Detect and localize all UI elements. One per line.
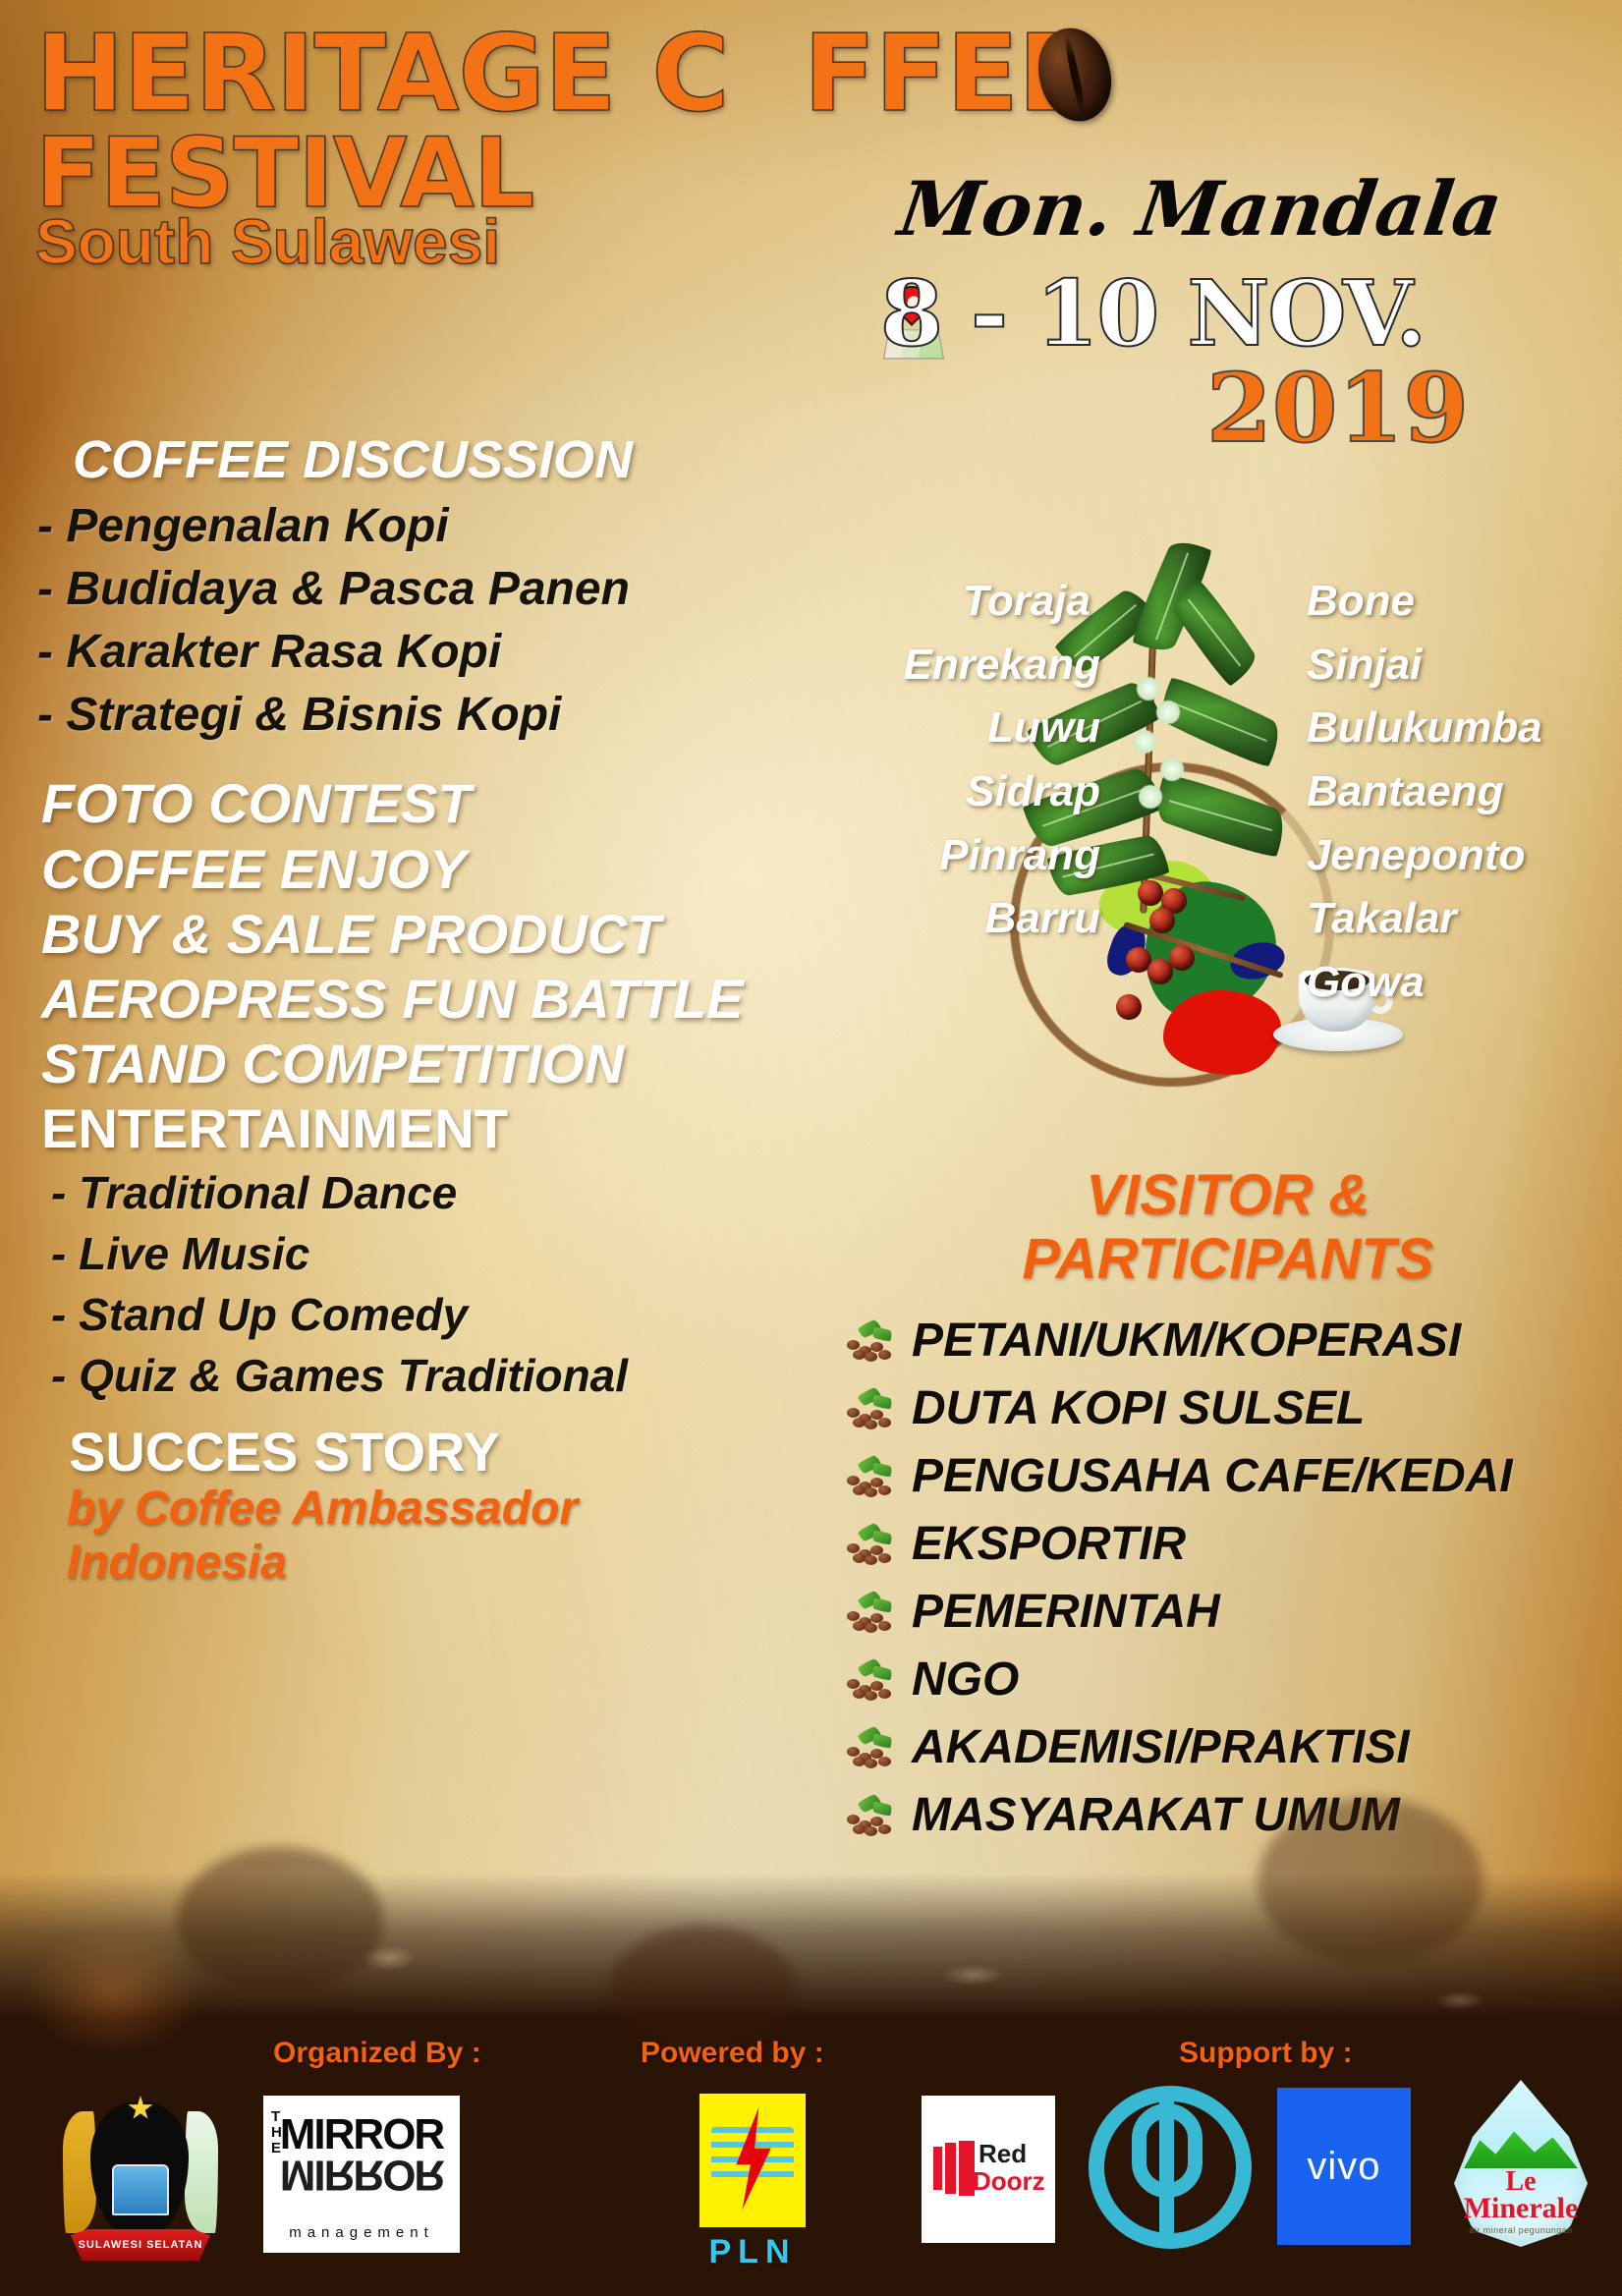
mirror-wordmark: MIRROR MIRROR [263,2105,460,2204]
region-label: Takalar [1307,887,1622,951]
list-item: AKADEMISI/PRAKTISI [845,1720,1621,1774]
region-label: Enrekang [806,634,1100,698]
leaf-icon [1167,577,1262,689]
list-item-label: PENGUSAHA CAFE/KEDAI [912,1449,1513,1503]
blossom-icon [1138,784,1163,810]
pln-logo [699,2094,806,2227]
list-item: - Quiz & Games Traditional [51,1345,892,1406]
coffee-beans-bullet-icon [845,1454,898,1497]
visitors-list: PETANI/UKM/KOPERASI DUTA KOPI SULSEL [845,1314,1621,1842]
list-item: FOTO CONTEST [41,771,892,836]
le-minerale-logo: Le Minerale air mineral pegunungan [1442,2080,1599,2255]
subtitle-south-sulawesi: South Sulawesi [35,210,500,273]
list-item: STAND COMPETITION [41,1032,892,1096]
region-label: Jeneponto [1307,824,1622,888]
list-item: COFFEE ENJOY [41,837,892,902]
program-column: COFFEE DISCUSSION - Pengenalan Kopi - Bu… [28,432,892,1590]
region-label: Toraja [806,570,1100,634]
list-item: - Strategi & Bisnis Kopi [37,684,892,747]
list-item: PEMERINTAH [845,1585,1621,1639]
list-item: MASYARAKAT UMUM [845,1788,1621,1842]
pln-wordmark: PLN [678,2233,827,2271]
activity-list: FOTO CONTEST COFFEE ENJOY BUY & SALE PRO… [28,771,892,1095]
region-label: Barru [806,887,1100,951]
map-blob-australia [1163,990,1281,1075]
region-label: Bulukumba [1307,697,1622,760]
the-mirror-management-logo: THE MIRROR MIRROR management [263,2096,460,2253]
entertainment-title: ENTERTAINMENT [41,1096,892,1160]
event-year: 2019 [1206,362,1469,456]
coffee-discussion-list: - Pengenalan Kopi - Budidaya & Pasca Pan… [37,495,892,746]
coffee-beans-bullet-icon [845,1522,898,1565]
list-item: PETANI/UKM/KOPERASI [845,1314,1621,1368]
emblem-ribbon: SULAWESI SELATAN [71,2229,210,2261]
mirror-word-top: MIRROR [280,2114,443,2155]
event-date-group: 8 - 10 NOV. [880,271,1425,357]
vivo-wordmark: vivo [1277,2088,1411,2245]
coffee-beans-bullet-icon [845,1725,898,1768]
sponsor-footer: Organized By : Powered by : Support by :… [0,1972,1622,2296]
vivo-logo: vivo [1277,2088,1411,2245]
emblem-center-crest [112,2164,169,2215]
list-item-label: EKSPORTIR [912,1517,1186,1571]
region-label: Luwu [806,697,1100,760]
coffee-cherry-icon [1149,908,1175,933]
visitors-title-line1: VISITOR & [835,1164,1621,1228]
coffee-cherry-icon [1169,945,1195,971]
list-item-label: AKADEMISI/PRAKTISI [912,1720,1410,1774]
coffee-beans-bullet-icon [845,1386,898,1429]
page-title: HERITAGE CFFEE [35,22,1090,128]
list-item-label: DUTA KOPI SULSEL [912,1381,1365,1435]
poster-canvas: HERITAGE CFFEE FESTIVAL South Sulawesi M… [0,0,1622,2296]
list-item: PENGUSAHA CAFE/KEDAI [845,1449,1621,1503]
list-item: AEROPRESS FUN BATTLE [41,967,892,1032]
list-item-label: PEMERINTAH [912,1585,1220,1639]
succes-story-by-line1: by Coffee Ambassador [67,1484,892,1536]
region-list-right: Bone Sinjai Bulukumba Bantaeng Jeneponto… [1307,570,1622,1015]
list-item: - Karakter Rasa Kopi [37,621,892,684]
region-label: Bone [1307,570,1622,634]
list-item: - Pengenalan Kopi [37,495,892,558]
region-label: Bantaeng [1307,760,1622,824]
region-label: Sinjai [1307,634,1622,698]
circle-monogram-logo [1089,2086,1252,2249]
succes-story-title: SUCCES STORY [69,1420,892,1484]
le-minerale-word-min: Minerale [1442,2192,1599,2225]
reddoorz-door-icon [933,2141,975,2196]
blossom-icon [1136,676,1161,701]
event-date: 8 - 10 NOV. [880,271,1425,357]
list-item: EKSPORTIR [845,1517,1621,1571]
list-item-label: NGO [912,1652,1019,1707]
le-minerale-tagline: air mineral pegunungan [1442,2225,1599,2235]
list-item: - Stand Up Comedy [51,1284,892,1345]
coffee-beans-bullet-icon [845,1793,898,1836]
list-item: - Budidaya & Pasca Panen [37,558,892,621]
coffee-discussion-title: COFFEE DISCUSSION [73,432,892,487]
powered-by-label: Powered by : [641,2037,824,2070]
region-label: Pinrang [806,824,1100,888]
visitors-title-line2: PARTICIPANTS [835,1228,1621,1292]
coffee-beans-bullet-icon [845,1318,898,1362]
reddoorz-logo: Red Doorz [922,2096,1055,2243]
coffee-cherry-icon [1138,880,1163,906]
visitors-title: VISITOR & PARTICIPANTS [835,1164,1621,1292]
mirror-word-bottom: MIRROR [280,2155,443,2195]
region-list-left: Toraja Enrekang Luwu Sidrap Pinrang Barr… [806,570,1100,951]
visitors-participants-block: VISITOR & PARTICIPANTS PETANI/UKM/KOPERA… [835,1164,1621,1856]
organized-by-label: Organized By : [273,2037,481,2070]
support-by-label: Support by : [1179,2037,1353,2070]
entertainment-list: - Traditional Dance - Live Music - Stand… [51,1162,892,1406]
region-label: Gowa [1307,951,1622,1015]
list-item-label: MASYARAKAT UMUM [912,1788,1400,1842]
blossom-icon [1155,700,1181,725]
mirror-management-label: management [263,2224,460,2241]
coffee-beans-bullet-icon [845,1590,898,1633]
blossom-icon [1159,756,1185,782]
blossom-icon [1132,729,1157,755]
sulawesi-selatan-emblem-logo: SULAWESI SELATAN [57,2088,224,2265]
list-item: - Traditional Dance [51,1162,892,1223]
emblem-wreath-right [185,2111,218,2233]
region-label: Sidrap [806,760,1100,824]
coffee-cherry-icon [1116,994,1142,1020]
circle-vertical-bar [1159,2092,1174,2239]
succes-story-by-line2: Indonesia [67,1538,892,1590]
list-item: DUTA KOPI SULSEL [845,1381,1621,1435]
venue-label: Mon. Mandala [894,165,1508,252]
reddoorz-word-red: Red [979,2139,1027,2169]
coffee-beans-bullet-icon [845,1657,898,1701]
list-item: - Live Music [51,1223,892,1284]
reddoorz-word-doorz: Doorz [973,2166,1045,2197]
emblem-ribbon-text: SULAWESI SELATAN [71,2229,210,2261]
list-item-label: PETANI/UKM/KOPERASI [912,1314,1461,1368]
list-item: NGO [845,1652,1621,1707]
list-item: BUY & SALE PRODUCT [41,902,892,967]
